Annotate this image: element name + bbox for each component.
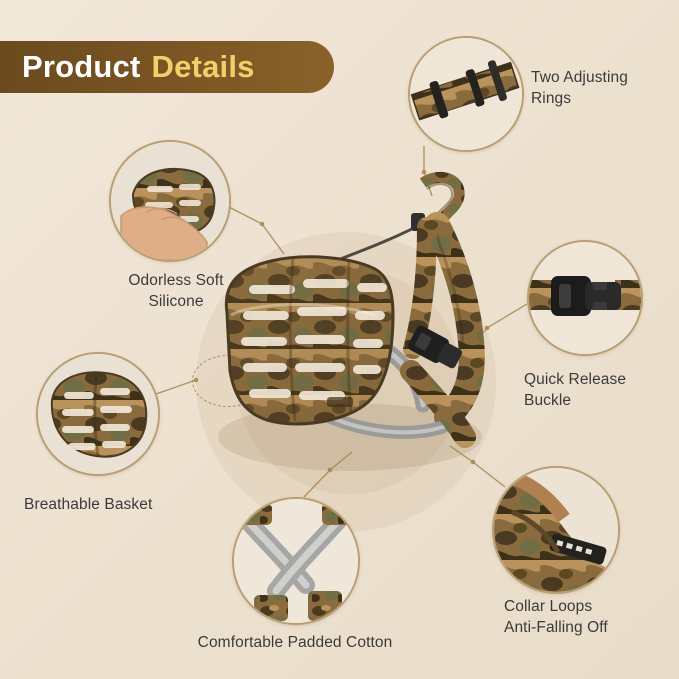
callout-odorless-soft-silicone — [109, 140, 231, 262]
label-line-1: Quick Release — [524, 370, 669, 391]
camouflage-basket-muzzle-icon — [38, 354, 158, 474]
title-word-product: Product — [22, 49, 141, 85]
label-line-1: Collar Loops — [504, 597, 654, 618]
label-line-2: Buckle — [524, 391, 669, 412]
callout-comfortable-padded-cotton — [232, 497, 360, 625]
label-quick-release-buckle: Quick Release Buckle — [524, 370, 669, 412]
label-line-2: Silicone — [101, 292, 251, 313]
hand-holding-muzzle-icon — [111, 142, 229, 260]
label-odorless-soft-silicone: Odorless Soft Silicone — [101, 271, 251, 313]
callout-quick-release-buckle — [527, 240, 643, 356]
callout-breathable-basket — [36, 352, 160, 476]
callout-two-adjusting-rings — [408, 36, 524, 152]
label-collar-loops: Collar Loops Anti-Falling Off — [504, 597, 654, 639]
label-comfortable-padded-cotton: Comfortable Padded Cotton — [175, 633, 415, 654]
label-line-1: Comfortable Padded Cotton — [175, 633, 415, 654]
black-side-release-buckle-icon — [529, 242, 641, 354]
label-two-adjusting-rings: Two Adjusting Rings — [531, 68, 671, 110]
label-line-1: Breathable Basket — [24, 495, 199, 516]
label-line-2: Anti-Falling Off — [504, 618, 654, 639]
label-line-2: Rings — [531, 89, 671, 110]
label-breathable-basket: Breathable Basket — [24, 495, 199, 516]
product-details-infographic: Product Details Two Adjusting Rings — [0, 0, 679, 679]
camouflage-strap-with-rings-icon — [410, 38, 522, 150]
grey-padded-straps-icon — [234, 499, 358, 623]
collar-loop-strap-icon — [494, 468, 618, 592]
title-banner: Product Details — [0, 41, 334, 93]
callout-collar-loops — [492, 466, 620, 594]
label-line-1: Odorless Soft — [101, 271, 251, 292]
label-line-1: Two Adjusting — [531, 68, 671, 89]
title-word-details: Details — [152, 49, 255, 85]
